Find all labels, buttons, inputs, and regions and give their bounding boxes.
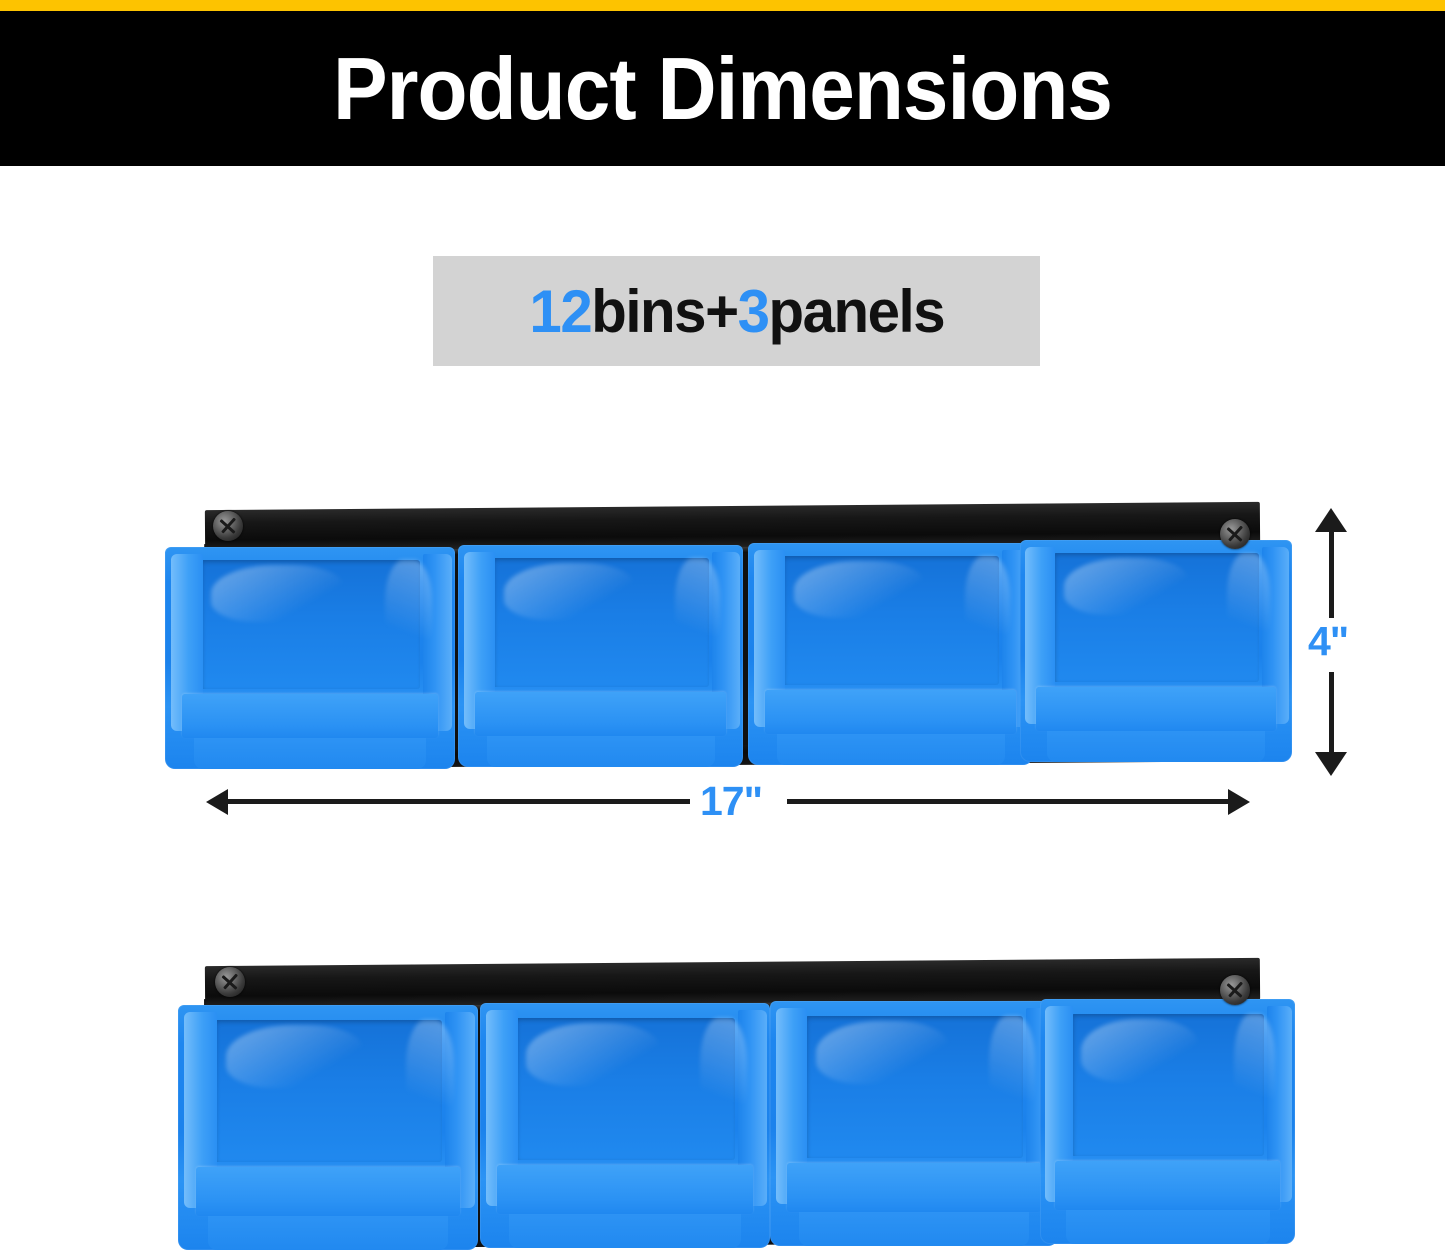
bin-gloss-highlight-secondary — [989, 1016, 1035, 1129]
product-assembly-bottom — [160, 957, 1295, 1242]
bin-foot — [1066, 1210, 1270, 1244]
bin-gloss-highlight-secondary — [385, 560, 431, 662]
bin-gloss-highlight-secondary — [1227, 553, 1271, 655]
bin-foot — [208, 1216, 448, 1250]
count-callout-text: 12bins+3panels — [529, 277, 944, 346]
bin-gloss-highlight-secondary — [700, 1018, 746, 1131]
dimension-label-height: 4" — [1308, 618, 1348, 665]
bin-front-lip — [475, 692, 726, 736]
bin-front-lip — [182, 694, 437, 738]
bin-front-lip — [1036, 687, 1275, 731]
bin-gloss-highlight-secondary — [406, 1020, 454, 1133]
bin-foot — [509, 1214, 741, 1248]
bin-front-lip — [765, 690, 1016, 734]
dimension-line-vertical-lower — [1329, 672, 1334, 757]
bin-front-lip — [1055, 1161, 1279, 1210]
storage-bin — [1020, 540, 1292, 762]
dimension-line-horizontal-right — [787, 799, 1230, 804]
page-title: Product Dimensions — [51, 11, 1395, 166]
dimension-label-width: 17" — [700, 778, 762, 825]
dimension-arrow-left-icon — [206, 789, 228, 815]
storage-bin — [458, 545, 743, 767]
product-assembly-top — [160, 500, 1295, 770]
storage-bin — [178, 1005, 478, 1250]
storage-bin — [480, 1003, 770, 1248]
bin-foot — [1047, 731, 1265, 762]
bin-count: 12 — [529, 278, 591, 345]
dimension-line-vertical-upper — [1329, 527, 1334, 618]
mounting-screw — [1220, 975, 1250, 1005]
dimension-arrow-down-icon — [1315, 752, 1347, 776]
storage-bin — [748, 543, 1033, 765]
panels-word: panels — [768, 278, 944, 345]
bin-foot — [487, 736, 715, 767]
mounting-screw — [213, 511, 243, 541]
panel-count: 3 — [737, 278, 768, 345]
dimension-line-horizontal-left — [226, 799, 690, 804]
accent-bar — [0, 0, 1445, 11]
bin-foot — [799, 1212, 1029, 1246]
mounting-screw — [1220, 519, 1250, 549]
bin-gloss-highlight-secondary — [675, 558, 721, 660]
bin-foot — [777, 734, 1005, 765]
bin-gloss-highlight-secondary — [1234, 1014, 1275, 1127]
bin-front-lip — [196, 1167, 460, 1216]
storage-bin — [1040, 999, 1295, 1244]
storage-bin — [165, 547, 455, 769]
bin-gloss-highlight-secondary — [965, 556, 1011, 658]
bin-front-lip — [787, 1163, 1040, 1212]
count-callout: 12bins+3panels — [433, 256, 1040, 366]
mounting-screw — [215, 967, 245, 997]
bins-word: bins+ — [591, 278, 737, 345]
storage-bin — [770, 1001, 1058, 1246]
bin-front-lip — [497, 1165, 752, 1214]
bin-foot — [194, 738, 426, 769]
dimension-arrow-right-icon — [1228, 789, 1250, 815]
